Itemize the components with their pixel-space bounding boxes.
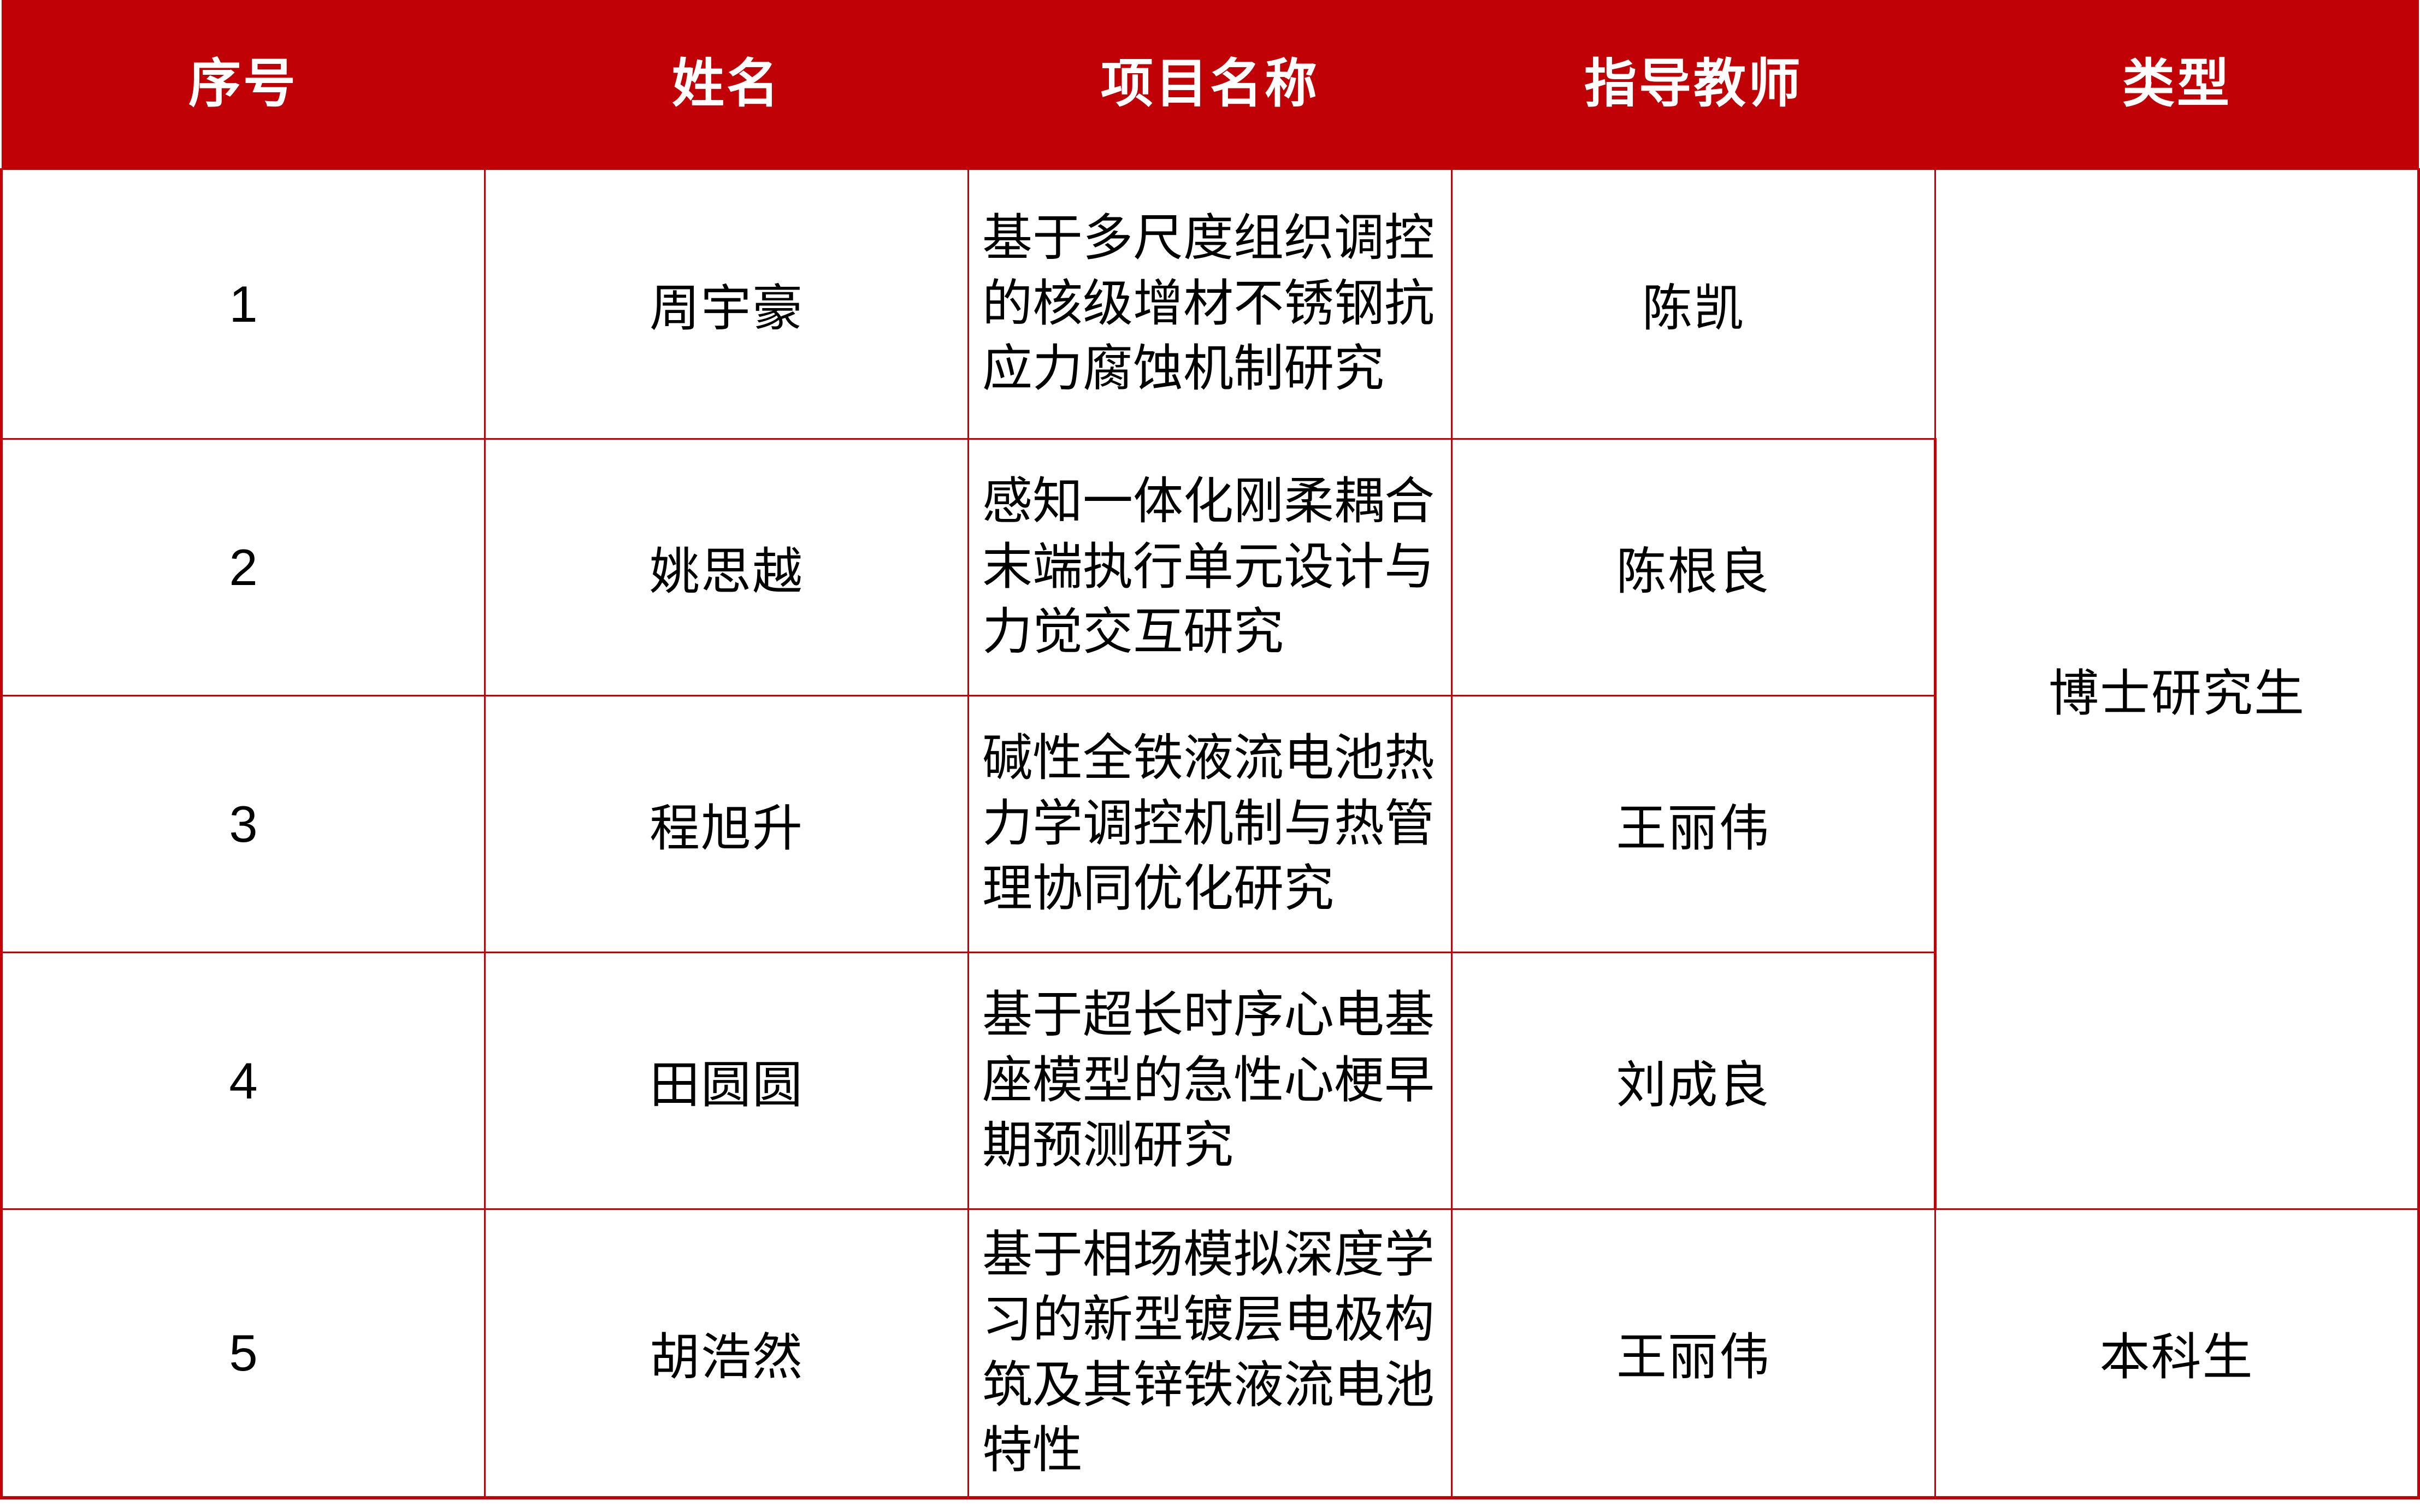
cell-index: 3 [2, 696, 485, 953]
cell-name: 姚思越 [485, 439, 969, 696]
column-header-project: 项目名称 [969, 0, 1452, 169]
cell-project: 基于多尺度组织调控的核级增材不锈钢抗应力腐蚀机制研究 [969, 169, 1452, 439]
table-body: 1 周宇豪 基于多尺度组织调控的核级增材不锈钢抗应力腐蚀机制研究 陈凯 博士研究… [2, 169, 2419, 1498]
cell-teacher: 陈凯 [1452, 169, 1935, 439]
cell-teacher: 王丽伟 [1452, 1209, 1935, 1498]
cell-name: 胡浩然 [485, 1209, 969, 1498]
table-row: 5 胡浩然 基于相场模拟深度学习的新型镀层电极构筑及其锌铁液流电池特性 王丽伟 … [2, 1209, 2419, 1498]
table-header: 序号 姓名 项目名称 指导教师 类型 [2, 0, 2419, 169]
column-header-index: 序号 [2, 0, 485, 169]
table-header-row: 序号 姓名 项目名称 指导教师 类型 [2, 0, 2419, 169]
cell-name: 田圆圆 [485, 953, 969, 1209]
cell-teacher: 刘成良 [1452, 953, 1935, 1209]
cell-teacher: 陈根良 [1452, 439, 1935, 696]
cell-project: 感知一体化刚柔耦合末端执行单元设计与力觉交互研究 [969, 439, 1452, 696]
cell-project: 基于相场模拟深度学习的新型镀层电极构筑及其锌铁液流电池特性 [969, 1209, 1452, 1498]
project-list-table: 序号 姓名 项目名称 指导教师 类型 1 周宇豪 基于多尺度组织调控的核级增材不… [0, 0, 2420, 1499]
column-header-type: 类型 [1935, 0, 2419, 169]
project-table-container: 序号 姓名 项目名称 指导教师 类型 1 周宇豪 基于多尺度组织调控的核级增材不… [0, 0, 2420, 1512]
column-header-name: 姓名 [485, 0, 969, 169]
cell-project: 基于超长时序心电基座模型的急性心梗早期预测研究 [969, 953, 1452, 1209]
cell-name: 程旭升 [485, 696, 969, 953]
cell-index: 5 [2, 1209, 485, 1498]
cell-name: 周宇豪 [485, 169, 969, 439]
cell-type-undergraduate: 本科生 [1935, 1209, 2419, 1498]
cell-type-merged-doctoral: 博士研究生 [1935, 169, 2419, 1209]
cell-index: 1 [2, 169, 485, 439]
column-header-teacher: 指导教师 [1452, 0, 1935, 169]
cell-project: 碱性全铁液流电池热力学调控机制与热管理协同优化研究 [969, 696, 1452, 953]
cell-index: 4 [2, 953, 485, 1209]
cell-index: 2 [2, 439, 485, 696]
cell-teacher: 王丽伟 [1452, 696, 1935, 953]
table-row: 1 周宇豪 基于多尺度组织调控的核级增材不锈钢抗应力腐蚀机制研究 陈凯 博士研究… [2, 169, 2419, 439]
